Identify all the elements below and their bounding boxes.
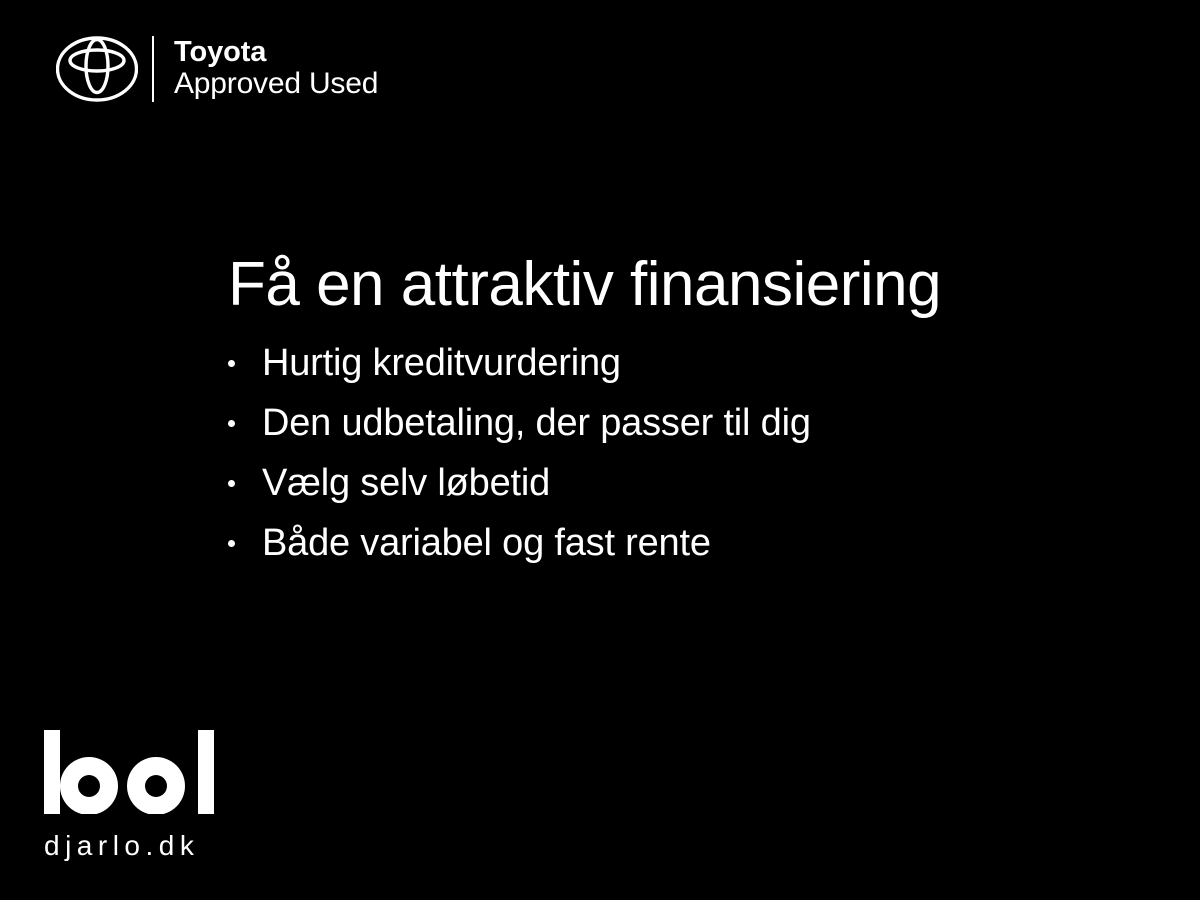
- bullet-dot-icon: [228, 540, 235, 547]
- slide-canvas: Toyota Approved Used Få en attraktiv fin…: [0, 0, 1200, 900]
- list-item-label: Hurtig kreditvurdering: [262, 342, 621, 384]
- dealer-logo-block: djarlo.dk: [44, 730, 214, 862]
- brand-subtitle: Approved Used: [174, 69, 378, 100]
- bullet-dot-icon: [228, 420, 235, 427]
- list-item: Den udbetaling, der passer til dig: [228, 393, 1088, 453]
- toyota-emblem-icon: [56, 36, 138, 102]
- toyota-brand-lockup: Toyota Approved Used: [56, 36, 378, 102]
- bullet-dot-icon: [228, 480, 235, 487]
- benefit-list: Hurtig kreditvurdering Den udbetaling, d…: [228, 333, 1088, 573]
- dealer-website-url: djarlo.dk: [44, 830, 214, 862]
- list-item: Både variabel og fast rente: [228, 513, 1088, 573]
- list-item: Vælg selv løbetid: [228, 453, 1088, 513]
- list-item-label: Den udbetaling, der passer til dig: [262, 402, 811, 444]
- page-title: Få en attraktiv finansiering: [228, 252, 1088, 319]
- djarlo-bo-od-monogram-icon: [44, 730, 214, 814]
- list-item-label: Vælg selv løbetid: [262, 462, 550, 504]
- brand-divider: [152, 36, 154, 102]
- bullet-dot-icon: [228, 360, 235, 367]
- list-item-label: Både variabel og fast rente: [262, 522, 711, 564]
- message-block: Få en attraktiv finansiering Hurtig kred…: [228, 252, 1088, 573]
- brand-name: Toyota: [174, 38, 378, 68]
- list-item: Hurtig kreditvurdering: [228, 333, 1088, 393]
- brand-text-block: Toyota Approved Used: [174, 38, 378, 100]
